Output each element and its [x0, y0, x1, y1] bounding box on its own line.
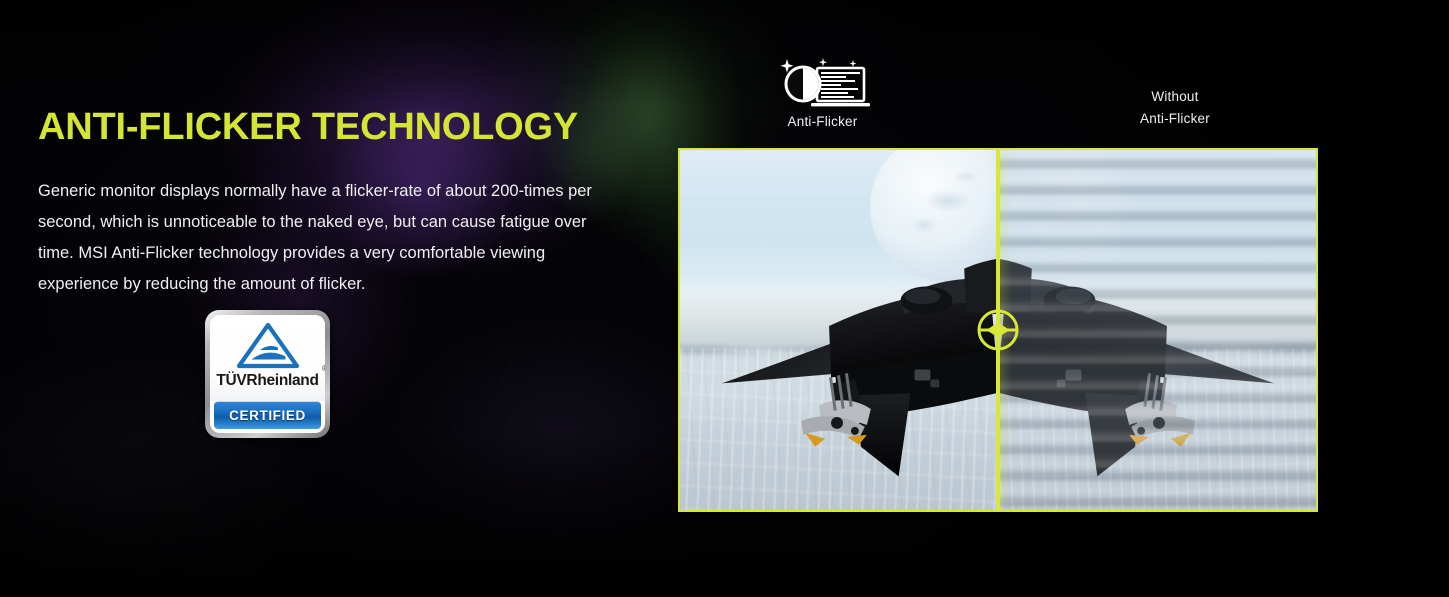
without-caption-line2: Anti-Flicker — [1095, 108, 1255, 130]
comparison-panel-right — [998, 150, 1316, 510]
compare-slider-crosshair-icon[interactable] — [972, 304, 1024, 356]
anti-flicker-feature-icon-block: Anti-Flicker — [770, 55, 875, 129]
tuv-rheinland-certified-badge: TÜVRheinland ® CERTIFIED — [205, 310, 330, 438]
body-paragraph: Generic monitor displays normally have a… — [38, 148, 618, 300]
comparison-panel-left — [680, 150, 998, 510]
anti-flicker-monitor-icon — [775, 55, 871, 113]
anti-flicker-feature-section: ANTI-FLICKER TECHNOLOGY Generic monitor … — [0, 0, 1449, 597]
page-title: ANTI-FLICKER TECHNOLOGY — [38, 108, 628, 148]
scene-left — [680, 150, 998, 510]
badge-upper: TÜVRheinland ® — [210, 315, 325, 401]
without-caption-line1: Without — [1095, 86, 1255, 108]
without-anti-flicker-caption: Without Anti-Flicker — [1095, 86, 1255, 130]
registered-mark: ® — [322, 364, 325, 373]
badge-brand-text: TÜVRheinland — [216, 372, 318, 389]
scene-right — [998, 150, 1316, 510]
badge-status-banner: CERTIFIED — [214, 401, 321, 429]
spacecraft-left — [680, 150, 998, 510]
badge-brand-name: TÜVRheinland ® — [216, 372, 318, 390]
copy-column: ANTI-FLICKER TECHNOLOGY Generic monitor … — [38, 108, 628, 300]
spacecraft-right — [998, 150, 1316, 510]
anti-flicker-icon-label: Anti-Flicker — [770, 114, 875, 129]
badge-inner: TÜVRheinland ® CERTIFIED — [210, 315, 325, 433]
tuv-triangle-logo-icon — [235, 323, 301, 369]
scene-right-mirror — [998, 150, 1316, 510]
comparison-image-frame[interactable] — [678, 148, 1318, 512]
